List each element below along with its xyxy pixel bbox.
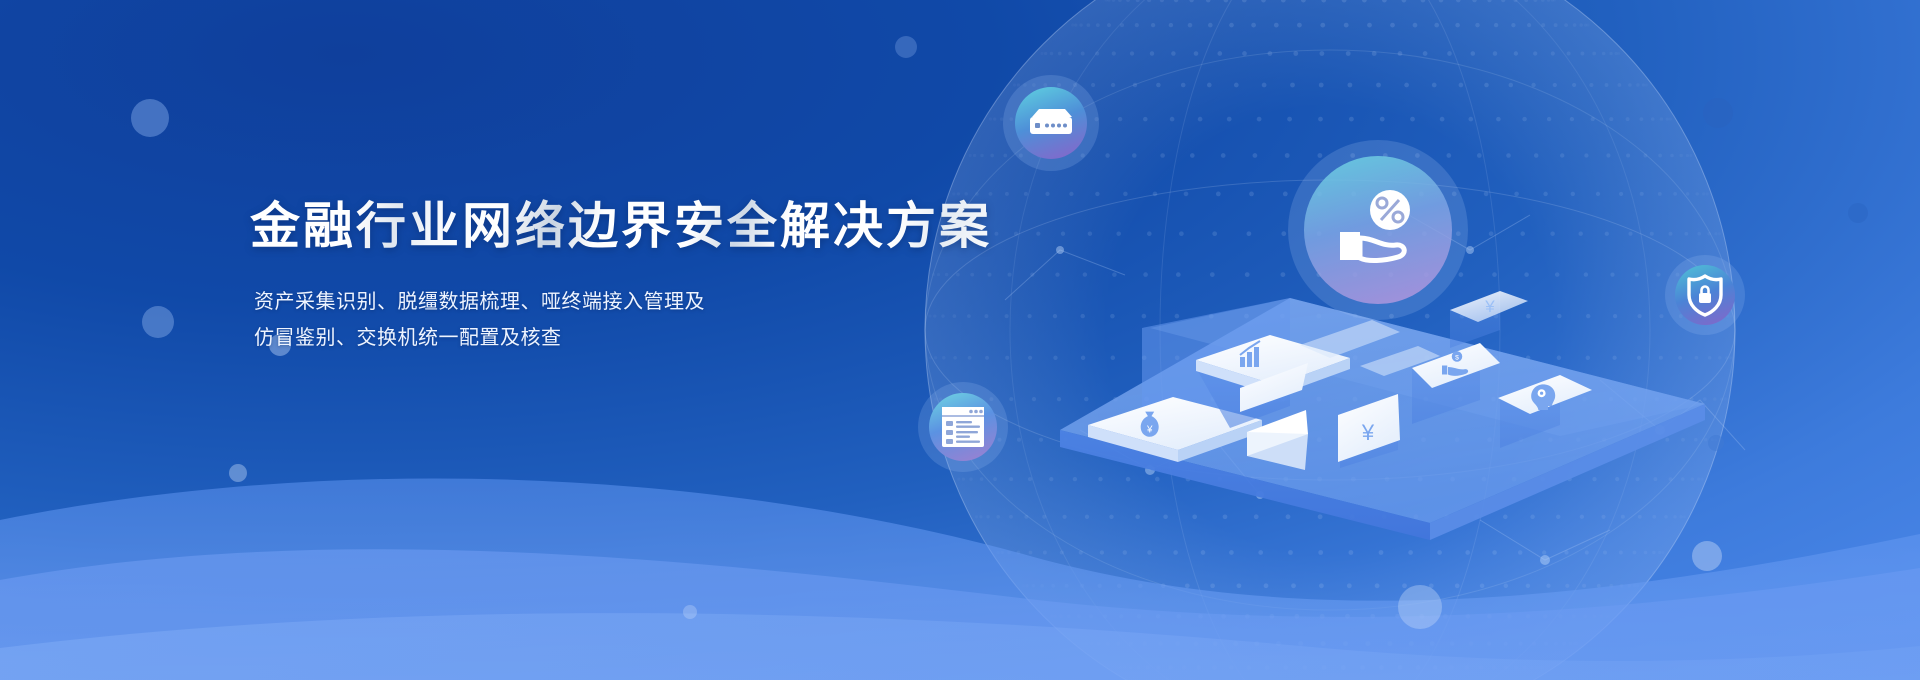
document-list-icon (940, 405, 986, 449)
badge-disc (929, 393, 997, 461)
hand-percent-icon (1330, 188, 1426, 272)
badge-disc (1304, 156, 1452, 304)
tile-yuan-top: ¥ (1450, 291, 1528, 348)
network-switch-icon (1025, 106, 1077, 140)
shield-lock-icon (1685, 273, 1725, 317)
hero-text-block: 金融行业网络边界安全解决方案 资产采集识别、脱缰数据梳理、哑终端接入管理及 仿冒… (250, 198, 1010, 356)
badge-network-switch (1003, 75, 1099, 171)
yuan-symbol-icon-top: ¥ (1484, 297, 1495, 316)
subtitle-line-1: 资产采集识别、脱缰数据梳理、哑终端接入管理及 (254, 284, 1010, 320)
svg-text:¥: ¥ (1146, 424, 1153, 435)
page-title: 金融行业网络边界安全解决方案 (250, 198, 1010, 256)
badge-shield-lock (1665, 255, 1745, 335)
page-subtitle: 资产采集识别、脱缰数据梳理、哑终端接入管理及 仿冒鉴别、交换机统一配置及核查 (254, 284, 1010, 356)
badge-document-list (918, 382, 1008, 472)
badge-hand-percent (1288, 140, 1468, 320)
finance-network-security-banner: ¥ (0, 0, 1920, 680)
subtitle-line-2: 仿冒鉴别、交换机统一配置及核查 (254, 320, 1010, 356)
svg-text:$: $ (1455, 355, 1459, 362)
yuan-symbol-icon: ¥ (1361, 420, 1375, 445)
